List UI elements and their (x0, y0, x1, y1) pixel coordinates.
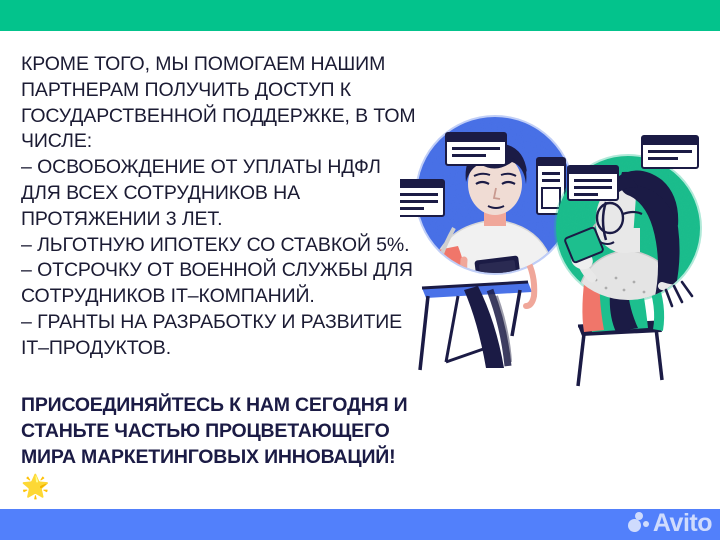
body-copy-line: ГОСУДАРСТВЕННОЙ ПОДДЕРЖКЕ, В ТОМ (21, 104, 433, 130)
body-copy-line: ДЛЯ ВСЕХ СОТРУДНИКОВ НА (21, 181, 433, 207)
body-copy-line: – ОТСРОЧКУ ОТ ВОЕННОЙ СЛУЖБЫ ДЛЯ (21, 258, 433, 284)
illustration (400, 100, 720, 400)
bottom-accent-bar (0, 509, 720, 540)
ad-creative-canvas: КРОМЕ ТОГО, МЫ ПОМОГАЕМ НАШИМ ПАРТНЕРАМ … (0, 0, 720, 540)
body-copy-line: ЧИСЛЕ: (21, 129, 433, 155)
document-card (642, 136, 698, 168)
cta-line: ПРИСОЕДИНЯЙТЕСЬ К НАМ СЕГОДНЯ И (21, 393, 441, 419)
woman-figure-group (554, 136, 702, 386)
man-figure-group (400, 115, 575, 370)
body-copy-line: IT–ПРОДУКТОВ. (21, 336, 433, 362)
body-copy-line: – ГРАНТЫ НА РАЗРАБОТКУ И РАЗВИТИЕ (21, 310, 433, 336)
body-copy-line: ПАРТНЕРАМ ПОЛУЧИТЬ ДОСТУП К (21, 78, 433, 104)
body-copy-line: КРОМЕ ТОГО, МЫ ПОМОГАЕМ НАШИМ (21, 52, 433, 78)
document-card (568, 166, 618, 200)
body-copy-block: КРОМЕ ТОГО, МЫ ПОМОГАЕМ НАШИМ ПАРТНЕРАМ … (21, 52, 433, 362)
body-copy-line: – ЛЬГОТНУЮ ИПОТЕКУ СО СТАВКОЙ 5%. (21, 233, 433, 259)
document-card (400, 180, 444, 216)
cta-line: СТАНЬТЕ ЧАСТЬЮ ПРОЦВЕТАЮЩЕГО (21, 419, 441, 445)
top-accent-bar (0, 0, 720, 31)
document-card (446, 133, 506, 165)
body-copy-line: – ОСВОБОЖДЕНИЕ ОТ УПЛАТЫ НДФЛ (21, 155, 433, 181)
body-copy-line: СОТРУДНИКОВ IT–КОМПАНИЙ. (21, 284, 433, 310)
call-to-action-block: ПРИСОЕДИНЯЙТЕСЬ К НАМ СЕГОДНЯ И СТАНЬТЕ … (21, 393, 441, 499)
body-copy-line: ПРОТЯЖЕНИИ 3 ЛЕТ. (21, 207, 433, 233)
glowing-star-icon: 🌟 (21, 473, 441, 499)
cta-line: МИРА МАРКЕТИНГОВЫХ ИННОВАЦИЙ! (21, 445, 441, 471)
